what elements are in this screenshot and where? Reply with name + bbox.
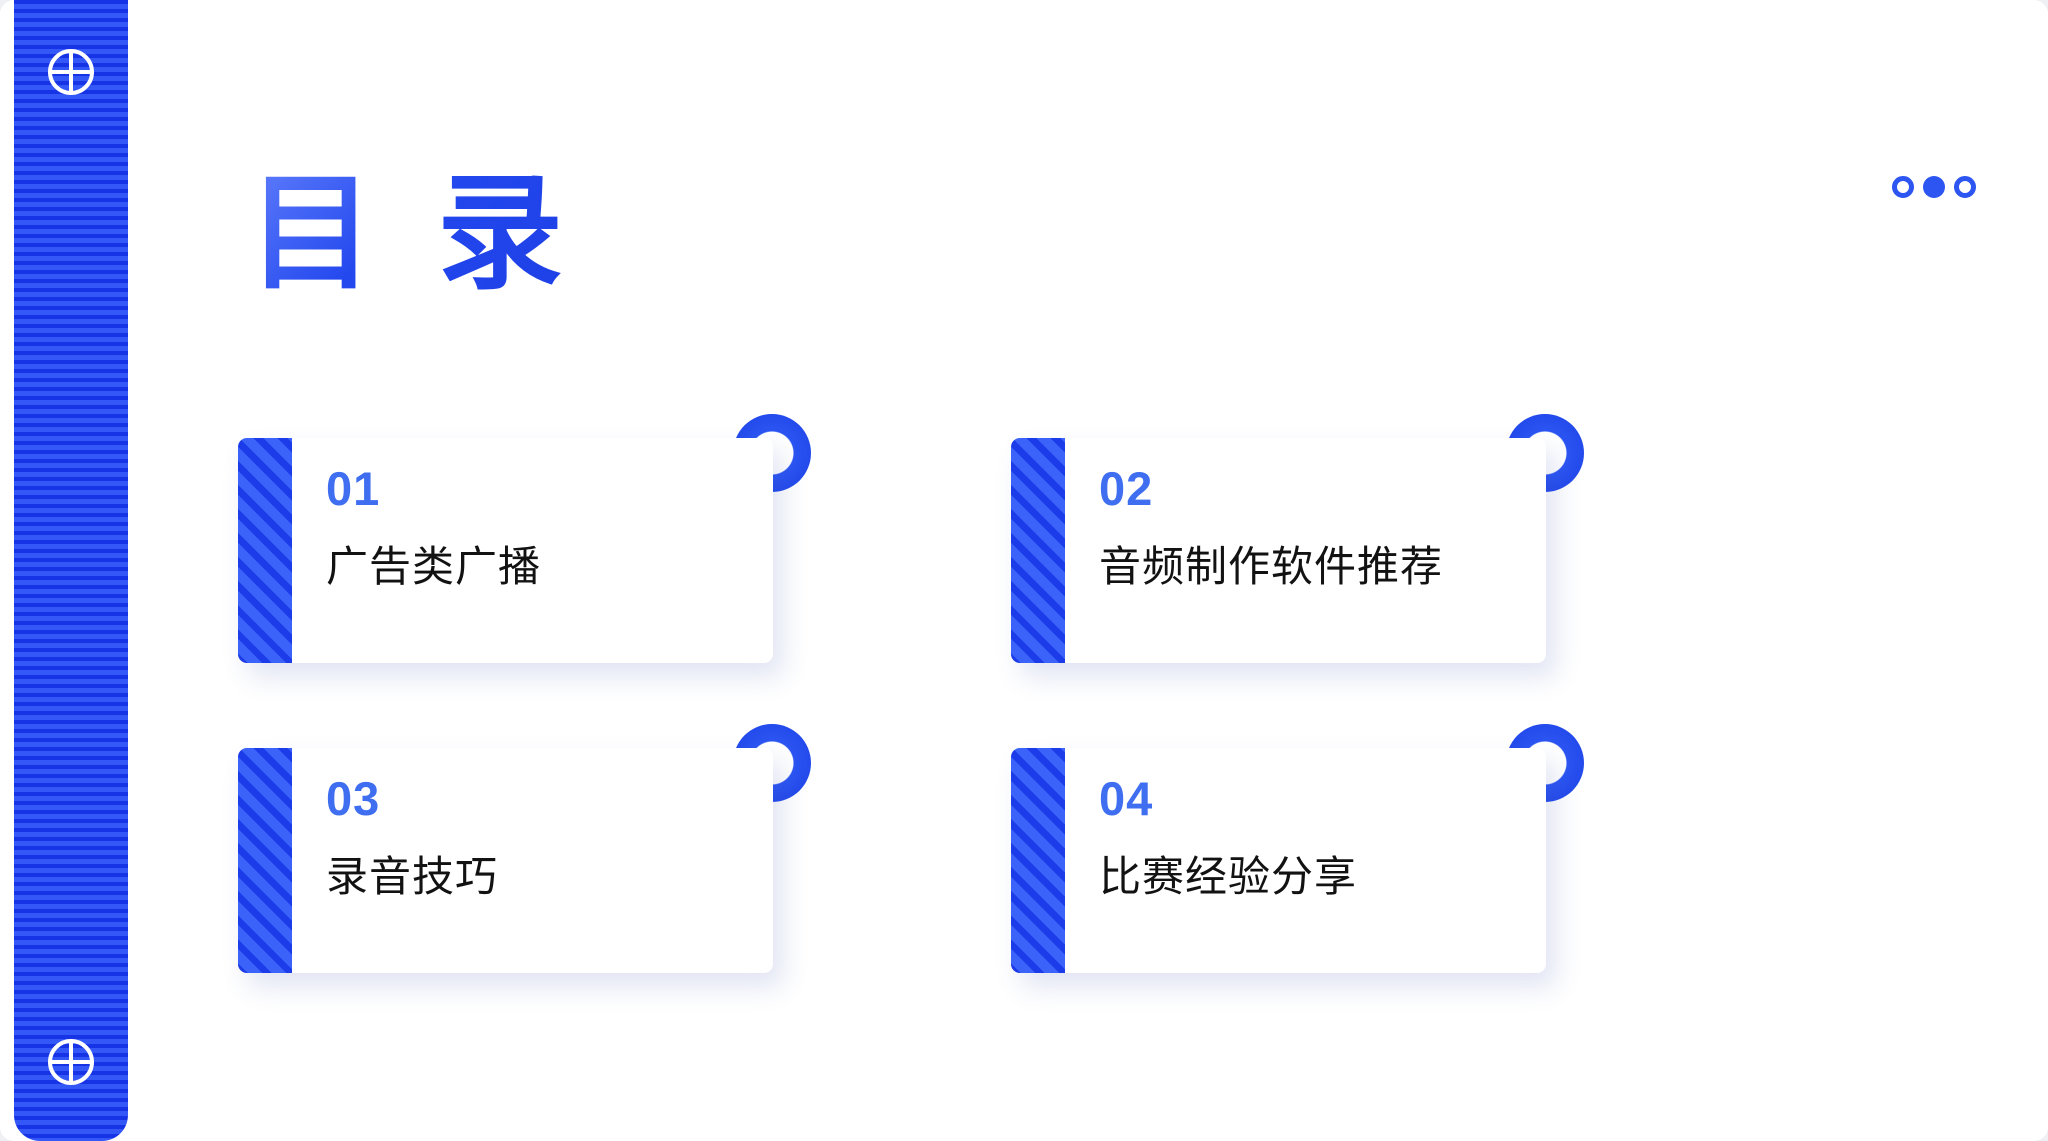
contents-item-02[interactable]: 02 音频制作软件推荐 (1011, 438, 1546, 663)
pagination-dot-2[interactable] (1923, 176, 1945, 198)
contents-item-label: 录音技巧 (326, 854, 773, 900)
slide-canvas: 目 录 01 广告类广播 02 音频制作软件推荐 (0, 0, 2048, 1141)
diagonal-stripe-bar (1011, 748, 1065, 973)
contents-item-label: 广告类广播 (326, 544, 773, 590)
diagonal-stripe-bar (238, 438, 292, 663)
left-sidebar (14, 0, 128, 1141)
contents-card-body: 03 录音技巧 (292, 748, 773, 973)
diagonal-stripe-bar (238, 748, 292, 973)
contents-card-body: 02 音频制作软件推荐 (1065, 438, 1546, 663)
contents-card-body: 04 比赛经验分享 (1065, 748, 1546, 973)
contents-item-label: 比赛经验分享 (1099, 854, 1546, 900)
contents-item-number: 04 (1099, 775, 1546, 822)
pagination-dot-1[interactable] (1892, 176, 1914, 198)
contents-item-number: 01 (326, 465, 773, 512)
contents-item-04[interactable]: 04 比赛经验分享 (1011, 748, 1546, 973)
diagonal-stripe-bar (1011, 438, 1065, 663)
contents-item-label: 音频制作软件推荐 (1099, 544, 1546, 590)
circled-cross-icon-bottom (45, 1036, 97, 1088)
pagination-dots[interactable] (1892, 176, 1976, 198)
page-title: 目 录 (248, 168, 577, 300)
contents-item-01[interactable]: 01 广告类广播 (238, 438, 773, 663)
contents-card[interactable]: 03 录音技巧 (238, 748, 773, 973)
contents-item-03[interactable]: 03 录音技巧 (238, 748, 773, 973)
circled-cross-icon-top (45, 46, 97, 98)
contents-card-body: 01 广告类广播 (292, 438, 773, 663)
contents-item-number: 02 (1099, 465, 1546, 512)
contents-card[interactable]: 04 比赛经验分享 (1011, 748, 1546, 973)
contents-card[interactable]: 02 音频制作软件推荐 (1011, 438, 1546, 663)
pagination-dot-3[interactable] (1954, 176, 1976, 198)
contents-card[interactable]: 01 广告类广播 (238, 438, 773, 663)
contents-item-number: 03 (326, 775, 773, 822)
